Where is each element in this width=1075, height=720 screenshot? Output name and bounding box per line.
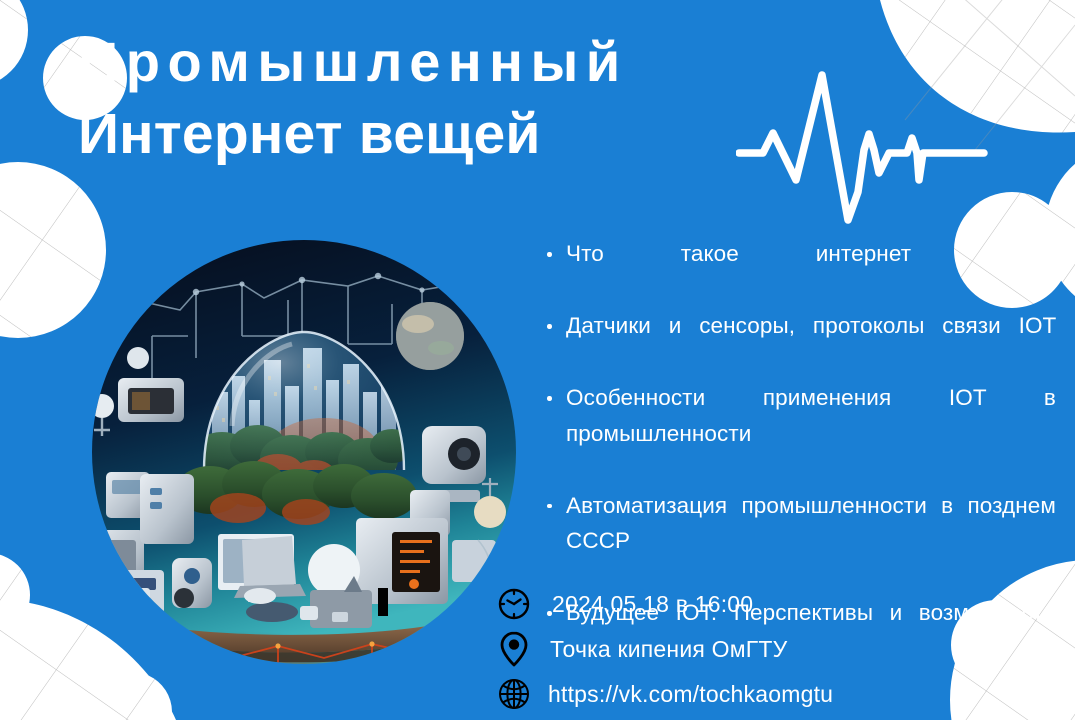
event-date-text: 2024.05.18 в 16:00	[552, 590, 753, 618]
event-place-text: Точка кипения ОмГТУ	[550, 635, 787, 663]
poster-canvas: Промышленный Интернет вещей	[0, 0, 1075, 720]
event-details: 2024.05.18 в 16:00 Точка кипения ОмГТУ	[494, 582, 833, 717]
event-link-row[interactable]: https://vk.com/tochkaomgtu	[494, 672, 833, 715]
location-pin-icon	[494, 629, 534, 669]
page-title: Промышленный Интернет вещей	[78, 26, 778, 170]
event-place-row: Точка кипения ОмГТУ	[494, 627, 833, 670]
agenda-item-label: Автоматизация промышленности в позднем С…	[566, 493, 1056, 554]
clock-icon	[494, 584, 534, 624]
agenda-item: Что такое интернет вещей	[536, 236, 1056, 307]
title-line-2: Интернет вещей	[78, 98, 778, 170]
heartbeat-pulse-icon	[736, 70, 988, 240]
event-date-row: 2024.05.18 в 16:00	[494, 582, 833, 625]
agenda-item-label: Что такое интернет вещей	[566, 241, 1056, 266]
globe-icon	[494, 674, 534, 714]
agenda-item: Особенности применения IOT в промышленно…	[536, 380, 1056, 487]
agenda-item: Датчики и сенсоры, протоколы связи IOT	[536, 308, 1056, 379]
agenda-item: Автоматизация промышленности в позднем С…	[536, 488, 1056, 595]
agenda-item-label: Датчики и сенсоры, протоколы связи IOT	[566, 313, 1056, 338]
iot-illustration-image	[92, 240, 516, 664]
agenda-item-label: Особенности применения IOT в промышленно…	[566, 385, 1056, 446]
event-link-text[interactable]: https://vk.com/tochkaomgtu	[548, 680, 833, 708]
title-line-1: Промышленный	[78, 26, 778, 98]
